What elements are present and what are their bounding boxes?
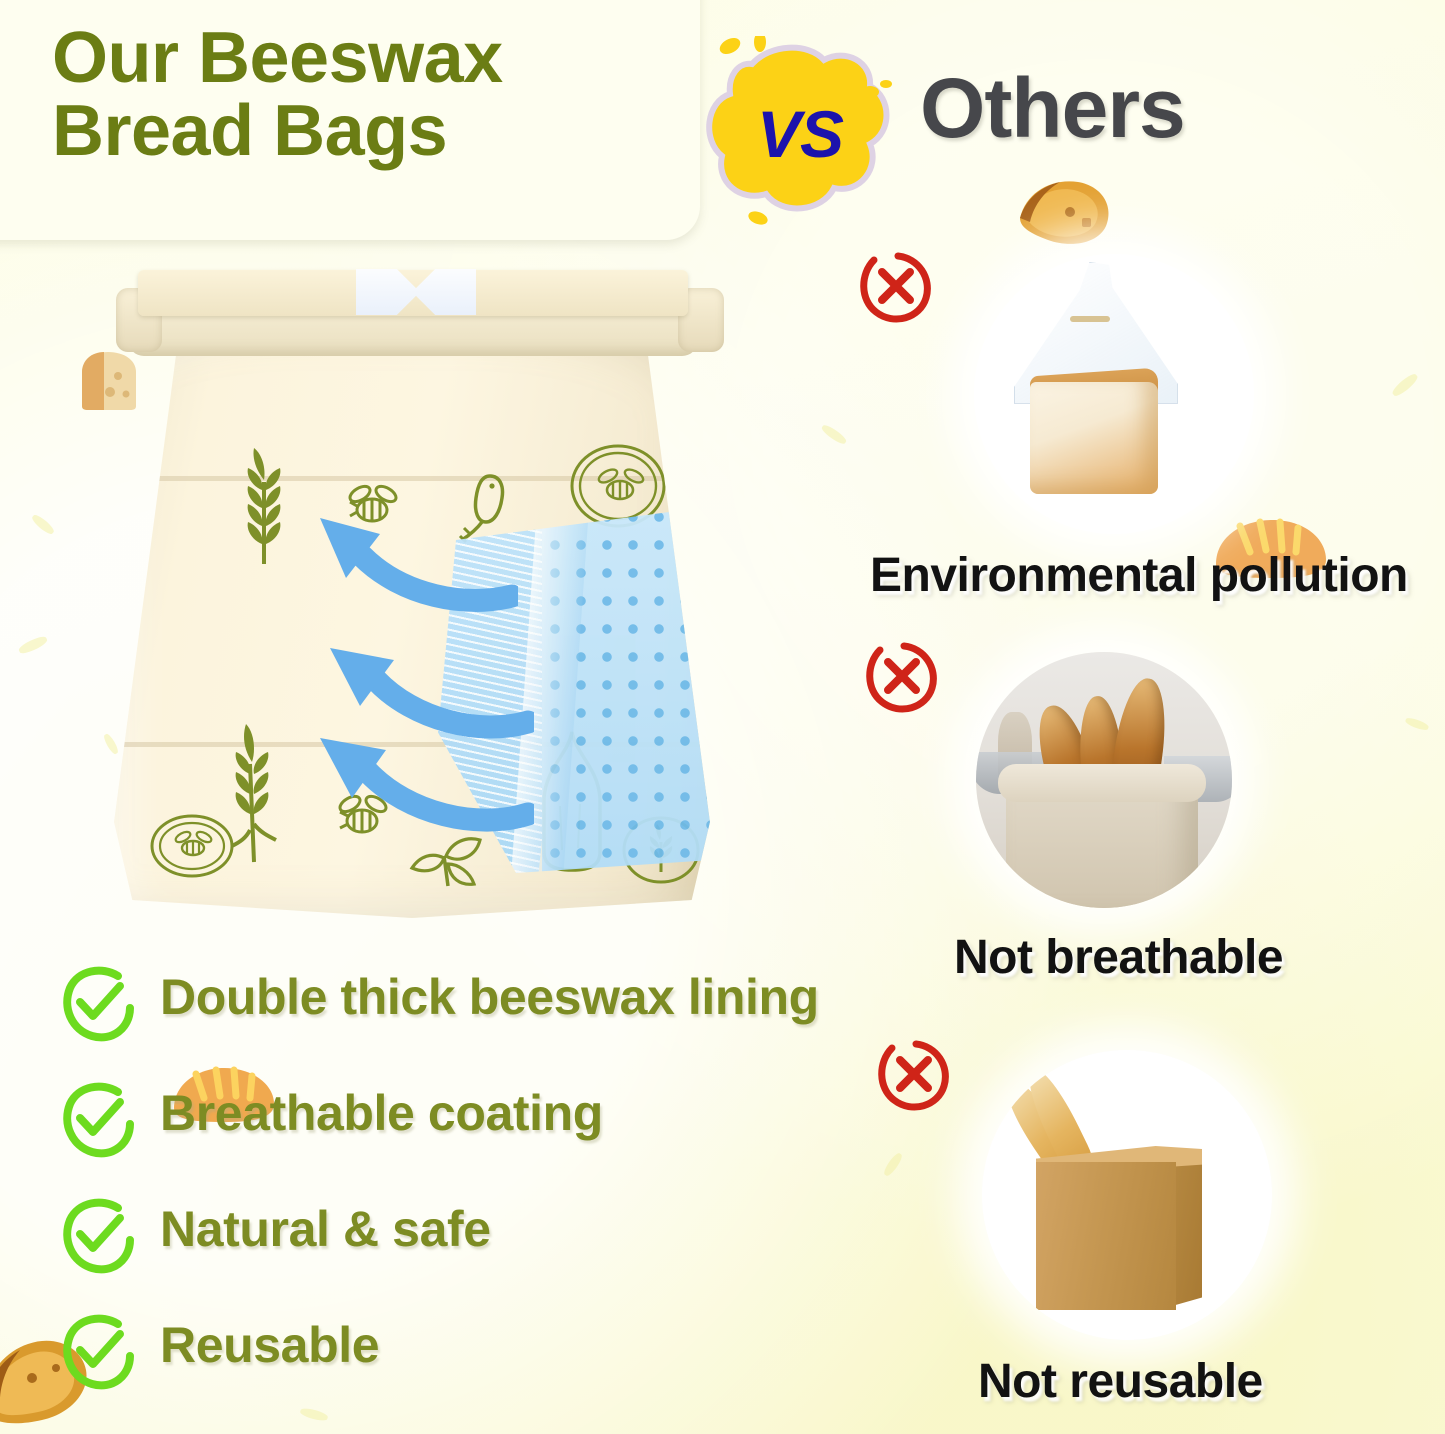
bag-body — [108, 318, 716, 918]
title-line-1: Our Beeswax — [52, 18, 503, 98]
check-circle-icon — [58, 964, 136, 1042]
product-image — [70, 240, 770, 950]
benefit-label: Breathable coating — [160, 1084, 603, 1142]
bread-loaf — [1030, 382, 1158, 494]
others-heading: Others — [920, 60, 1185, 157]
loaf-in-plastic-bag-photo — [974, 254, 1254, 534]
x-circle-icon — [874, 1036, 952, 1114]
wheat-icon — [236, 446, 292, 566]
bag-tie — [1070, 316, 1110, 322]
benefits-list: Double thick beeswax lining Breathable c… — [42, 958, 842, 1422]
benefit-item: Reusable — [42, 1306, 842, 1422]
drawback-label: Not reusable — [978, 1354, 1263, 1409]
airflow-arrow-icon — [294, 722, 534, 842]
versus-label: VS — [700, 36, 900, 226]
bee-badge-icon — [148, 810, 236, 882]
wheat-icon — [226, 718, 282, 864]
check-circle-icon — [58, 1196, 136, 1274]
croissant-icon — [1008, 168, 1118, 252]
versus-badge: VS — [700, 36, 900, 226]
x-circle-icon — [856, 248, 934, 326]
benefit-item: Breathable coating — [42, 1074, 842, 1190]
airflow-arrow-icon — [298, 500, 518, 620]
drawback-item: Not breathable — [850, 638, 1430, 1008]
drawback-item: Environmental pollution — [850, 248, 1430, 608]
drawback-item: Not reusable — [850, 1036, 1430, 1416]
linen-bag-cuff — [998, 764, 1206, 802]
check-circle-icon — [58, 1080, 136, 1158]
benefit-item: Double thick beeswax lining — [42, 958, 842, 1074]
kraft-paper-bag — [1036, 1162, 1176, 1310]
baguettes-in-linen-bag-photo — [976, 652, 1232, 908]
x-circle-icon — [862, 638, 940, 716]
baguettes-in-kraft-paper-bag-photo — [982, 1050, 1272, 1340]
drawback-label: Environmental pollution — [870, 548, 1408, 603]
check-circle-icon — [58, 1312, 136, 1390]
benefit-item: Natural & safe — [42, 1190, 842, 1306]
benefit-label: Natural & safe — [160, 1200, 491, 1258]
title-line-2: Bread Bags — [52, 95, 692, 168]
page-title: Our Beeswax Bread Bags — [52, 22, 692, 169]
benefit-label: Double thick beeswax lining — [160, 968, 819, 1026]
drawback-label: Not breathable — [954, 930, 1283, 985]
benefit-label: Reusable — [160, 1316, 379, 1374]
